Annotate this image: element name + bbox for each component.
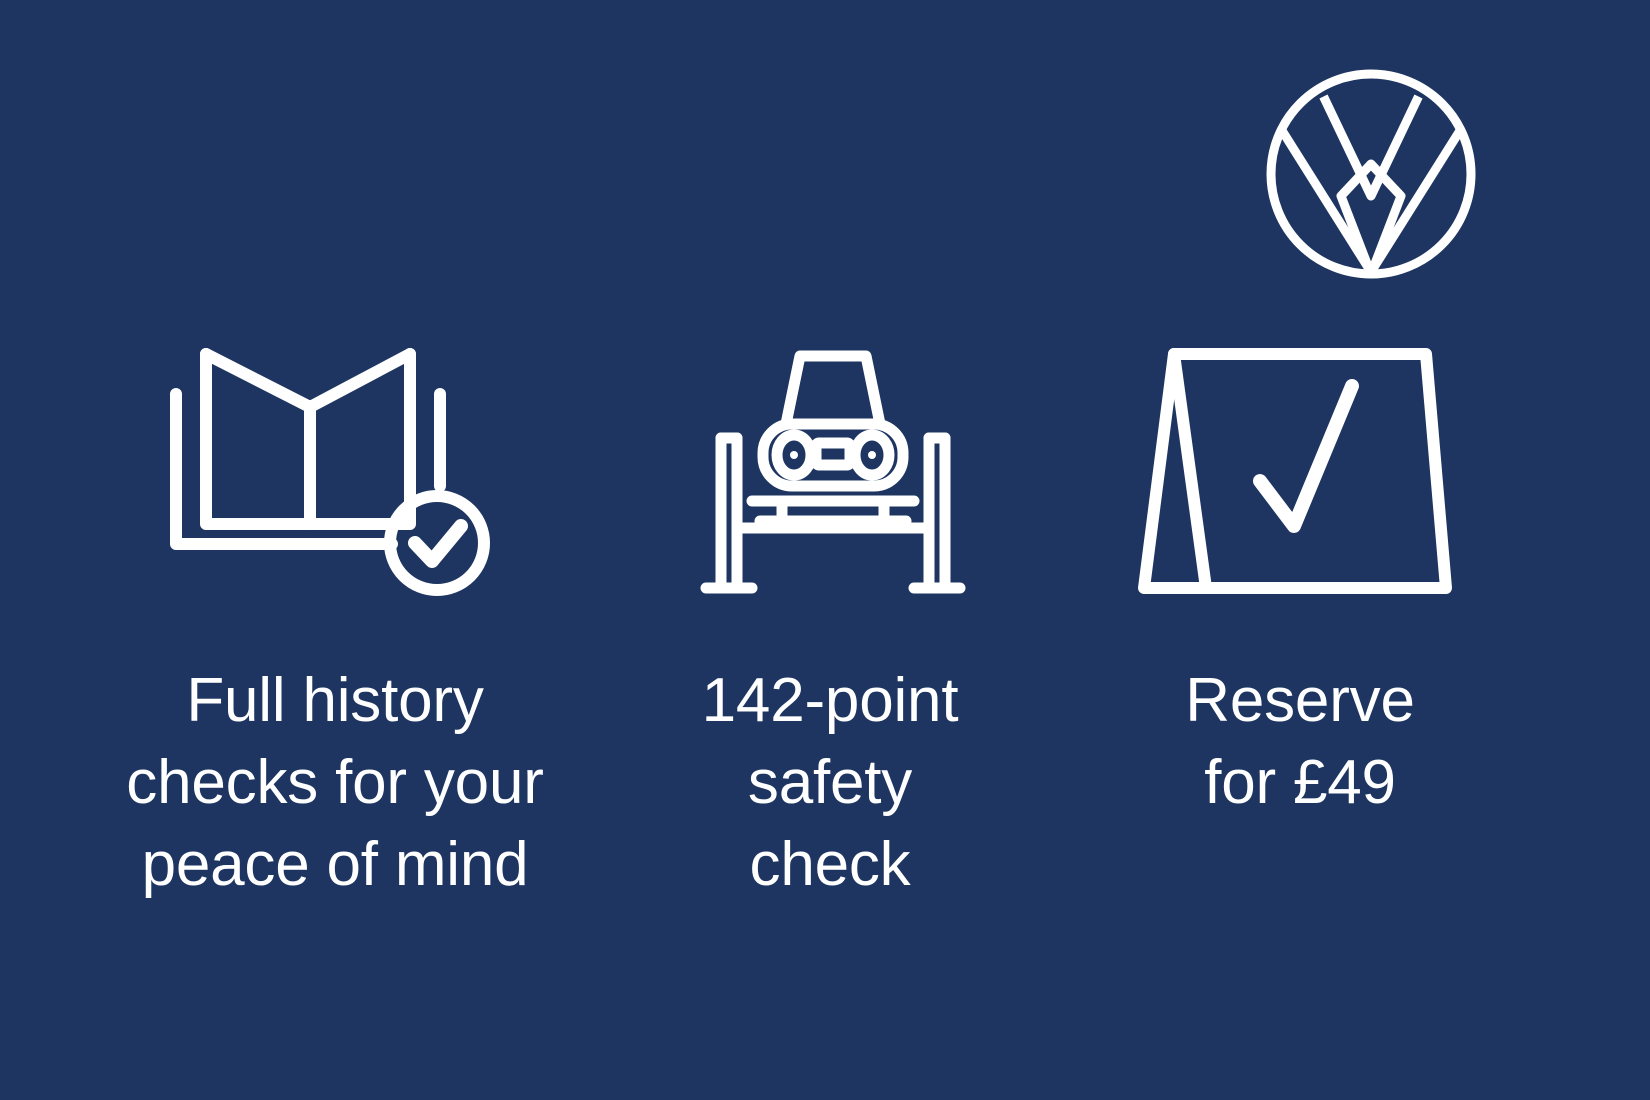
tent-card-with-check-icon — [1130, 338, 1460, 604]
open-book-with-check-icon — [160, 338, 500, 604]
feature-caption-safety-check: 142-point safety check — [620, 660, 1040, 905]
promo-banner: Full history checks for your peace of mi… — [0, 0, 1650, 1100]
feature-caption-reserve: Reserve for £49 — [1090, 660, 1510, 824]
feature-caption-full-history: Full history checks for your peace of mi… — [40, 660, 630, 905]
volkswagen-logo-icon — [1265, 68, 1477, 280]
car-on-lift-icon — [690, 338, 976, 604]
